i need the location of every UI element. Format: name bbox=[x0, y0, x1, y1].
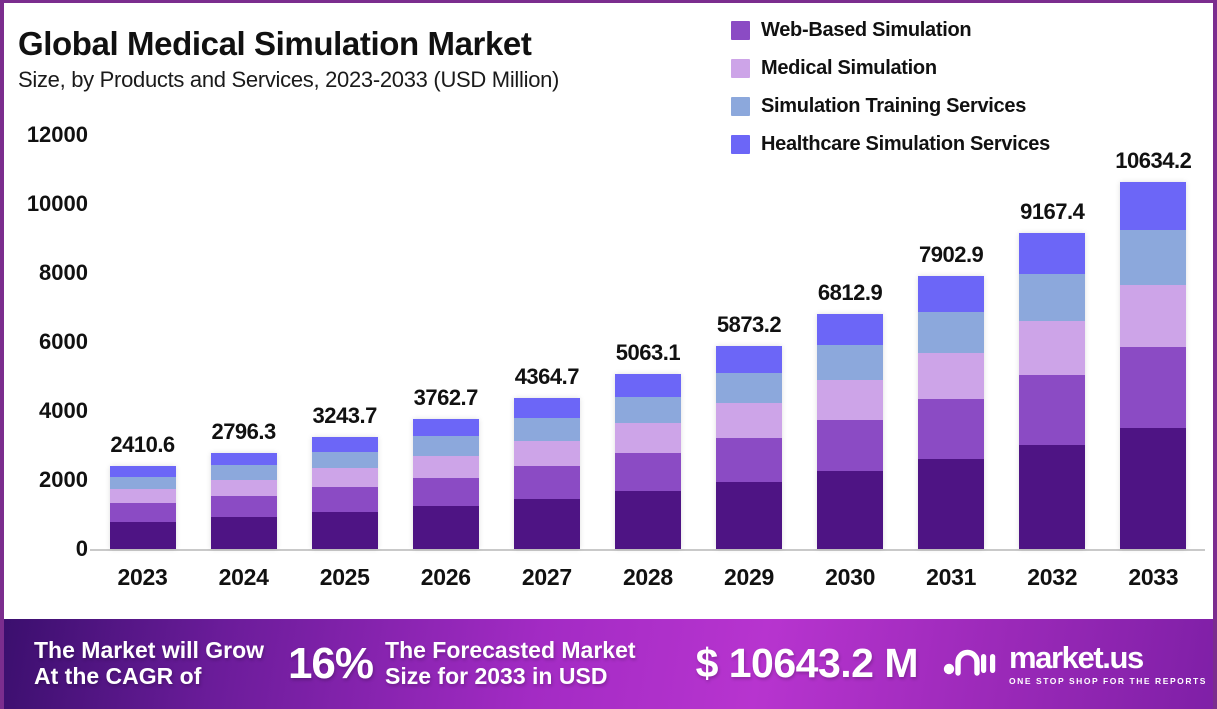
stacked-bar[interactable] bbox=[817, 314, 883, 549]
x-axis-tick-label: 2030 bbox=[800, 564, 901, 591]
stacked-bar[interactable] bbox=[716, 346, 782, 549]
bar-total-label: 10634.2 bbox=[1115, 148, 1191, 174]
bar-segment[interactable] bbox=[110, 477, 176, 489]
legend-item[interactable]: Simulation Training Services bbox=[731, 87, 1201, 125]
logo-name: market.us bbox=[1009, 642, 1207, 673]
bar-segment[interactable] bbox=[1120, 230, 1186, 285]
bar-total-label: 3243.7 bbox=[313, 403, 377, 429]
bar-segment[interactable] bbox=[110, 466, 176, 477]
bar-total-label: 2796.3 bbox=[211, 419, 275, 445]
bar-segment[interactable] bbox=[918, 353, 984, 399]
stacked-bar[interactable] bbox=[413, 419, 479, 549]
bar-segment[interactable] bbox=[211, 517, 277, 549]
bar-segment[interactable] bbox=[413, 419, 479, 436]
y-axis-tick-label: 12000 bbox=[27, 122, 88, 148]
market-us-logo-icon bbox=[940, 642, 1000, 687]
bar-segment[interactable] bbox=[211, 465, 277, 479]
y-axis-labels: 120001000080006000400020000 bbox=[4, 121, 88, 561]
x-axis-tick-label: 2027 bbox=[496, 564, 597, 591]
bar-total-label: 6812.9 bbox=[818, 280, 882, 306]
bar-segment[interactable] bbox=[312, 512, 378, 549]
bar-total-label: 7902.9 bbox=[919, 242, 983, 268]
summary-banner: The Market will Grow At the CAGR of 16% … bbox=[4, 619, 1217, 709]
legend-swatch-icon bbox=[731, 21, 750, 40]
bar-segment[interactable] bbox=[312, 437, 378, 452]
bar-total-label: 4364.7 bbox=[515, 364, 579, 390]
stacked-bar[interactable] bbox=[211, 453, 277, 549]
bar-series-container: 2410.62796.33243.73762.74364.75063.15873… bbox=[92, 121, 1204, 549]
bar-segment[interactable] bbox=[716, 373, 782, 403]
cagr-label: The Market will Grow At the CAGR of bbox=[34, 638, 280, 690]
stacked-bar[interactable] bbox=[110, 466, 176, 549]
legend-item-label: Medical Simulation bbox=[761, 57, 937, 80]
logo-text-block: market.us ONE STOP SHOP FOR THE REPORTS bbox=[1009, 642, 1207, 686]
x-axis-labels: 2023202420252026202720282029203020312032… bbox=[92, 555, 1204, 599]
y-axis-tick-label: 8000 bbox=[39, 260, 88, 286]
page-title: Global Medical Simulation Market bbox=[18, 25, 531, 63]
bar-segment[interactable] bbox=[211, 453, 277, 466]
bar-segment[interactable] bbox=[1019, 321, 1085, 375]
bar-segment[interactable] bbox=[615, 491, 681, 549]
forecast-value: $ 10643.2 M bbox=[696, 641, 918, 687]
bar-segment[interactable] bbox=[918, 276, 984, 311]
bar-segment[interactable] bbox=[817, 471, 883, 549]
bar-segment[interactable] bbox=[1120, 182, 1186, 230]
bar-segment[interactable] bbox=[716, 346, 782, 372]
bar-group[interactable]: 2410.6 bbox=[92, 121, 193, 549]
x-axis-tick-label: 2026 bbox=[395, 564, 496, 591]
infographic-frame: Global Medical Simulation Market Size, b… bbox=[0, 0, 1217, 709]
x-axis-tick-label: 2032 bbox=[1002, 564, 1103, 591]
bar-group[interactable]: 5873.2 bbox=[699, 121, 800, 549]
bar-segment[interactable] bbox=[1019, 233, 1085, 274]
stacked-bar[interactable] bbox=[1120, 182, 1186, 549]
bar-segment[interactable] bbox=[110, 489, 176, 503]
bar-segment[interactable] bbox=[413, 478, 479, 507]
bar-segment[interactable] bbox=[918, 312, 984, 353]
y-axis-tick-label: 2000 bbox=[39, 467, 88, 493]
page-subtitle: Size, by Products and Services, 2023-203… bbox=[18, 67, 559, 93]
bar-segment[interactable] bbox=[615, 423, 681, 453]
bar-segment[interactable] bbox=[716, 403, 782, 437]
bar-segment[interactable] bbox=[211, 480, 277, 496]
bar-segment[interactable] bbox=[1019, 274, 1085, 321]
bar-segment[interactable] bbox=[1019, 375, 1085, 445]
legend-item[interactable]: Web-Based Simulation bbox=[731, 11, 1201, 49]
y-axis-tick-label: 0 bbox=[76, 536, 88, 562]
bar-segment[interactable] bbox=[312, 468, 378, 487]
x-axis-tick-label: 2031 bbox=[901, 564, 1002, 591]
bar-segment[interactable] bbox=[312, 452, 378, 469]
bar-segment[interactable] bbox=[1120, 428, 1186, 549]
legend-item-label: Simulation Training Services bbox=[761, 95, 1026, 118]
bar-total-label: 9167.4 bbox=[1020, 199, 1084, 225]
bar-segment[interactable] bbox=[817, 380, 883, 420]
bar-group[interactable]: 2796.3 bbox=[193, 121, 294, 549]
bar-segment[interactable] bbox=[312, 487, 378, 512]
bar-segment[interactable] bbox=[1019, 445, 1085, 549]
stacked-bar[interactable] bbox=[1019, 233, 1085, 549]
legend-swatch-icon bbox=[731, 59, 750, 78]
chart-header: Global Medical Simulation Market Size, b… bbox=[4, 3, 724, 121]
bar-segment[interactable] bbox=[110, 522, 176, 549]
bar-group[interactable]: 6812.9 bbox=[800, 121, 901, 549]
forecast-label: The Forecasted Market Size for 2033 in U… bbox=[385, 638, 678, 690]
bar-group[interactable]: 4364.7 bbox=[496, 121, 597, 549]
bar-segment[interactable] bbox=[1120, 285, 1186, 347]
bar-segment[interactable] bbox=[413, 436, 479, 455]
stacked-bar[interactable] bbox=[514, 398, 580, 549]
x-axis-tick-label: 2028 bbox=[597, 564, 698, 591]
bar-segment[interactable] bbox=[918, 459, 984, 549]
bar-segment[interactable] bbox=[817, 314, 883, 345]
cagr-value: 16% bbox=[288, 639, 373, 688]
x-axis-tick-label: 2023 bbox=[92, 564, 193, 591]
bar-segment[interactable] bbox=[413, 506, 479, 549]
bar-segment[interactable] bbox=[716, 438, 782, 483]
bar-total-label: 3762.7 bbox=[414, 385, 478, 411]
x-axis-tick-label: 2024 bbox=[193, 564, 294, 591]
bar-segment[interactable] bbox=[817, 345, 883, 380]
legend-swatch-icon bbox=[731, 97, 750, 116]
bar-total-label: 5063.1 bbox=[616, 340, 680, 366]
market-us-logo[interactable]: market.us ONE STOP SHOP FOR THE REPORTS bbox=[940, 642, 1207, 687]
bar-segment[interactable] bbox=[918, 399, 984, 459]
bar-segment[interactable] bbox=[615, 453, 681, 491]
x-axis-tick-label: 2033 bbox=[1103, 564, 1204, 591]
bar-segment[interactable] bbox=[514, 466, 580, 499]
logo-tagline: ONE STOP SHOP FOR THE REPORTS bbox=[1009, 676, 1207, 686]
chart-plot-area: 120001000080006000400020000 2410.62796.3… bbox=[4, 121, 1217, 613]
legend-item-label: Web-Based Simulation bbox=[761, 19, 971, 42]
bar-segment[interactable] bbox=[615, 397, 681, 423]
bar-group[interactable]: 3762.7 bbox=[395, 121, 496, 549]
bar-segment[interactable] bbox=[514, 418, 580, 441]
stacked-bar[interactable] bbox=[615, 374, 681, 549]
stacked-bar[interactable] bbox=[918, 276, 984, 549]
stacked-bar[interactable] bbox=[312, 437, 378, 549]
y-axis-tick-label: 4000 bbox=[39, 398, 88, 424]
bar-segment[interactable] bbox=[514, 398, 580, 418]
x-axis-tick-label: 2029 bbox=[699, 564, 800, 591]
bar-group[interactable]: 3243.7 bbox=[294, 121, 395, 549]
bar-total-label: 5873.2 bbox=[717, 312, 781, 338]
bar-segment[interactable] bbox=[211, 496, 277, 517]
bar-segment[interactable] bbox=[1120, 347, 1186, 428]
y-axis-tick-label: 10000 bbox=[27, 191, 88, 217]
bar-segment[interactable] bbox=[817, 420, 883, 472]
bar-group[interactable]: 7902.9 bbox=[901, 121, 1002, 549]
bar-segment[interactable] bbox=[716, 482, 782, 549]
bar-group[interactable]: 5063.1 bbox=[597, 121, 698, 549]
x-axis-line bbox=[90, 549, 1205, 551]
bar-group[interactable]: 9167.4 bbox=[1002, 121, 1103, 549]
x-axis-tick-label: 2025 bbox=[294, 564, 395, 591]
y-axis-tick-label: 6000 bbox=[39, 329, 88, 355]
bar-segment[interactable] bbox=[413, 456, 479, 478]
legend-item[interactable]: Medical Simulation bbox=[731, 49, 1201, 87]
bar-segment[interactable] bbox=[514, 441, 580, 467]
bar-total-label: 2410.6 bbox=[110, 432, 174, 458]
bar-segment[interactable] bbox=[514, 499, 580, 549]
bar-segment[interactable] bbox=[615, 374, 681, 397]
bar-segment[interactable] bbox=[110, 503, 176, 521]
bar-group[interactable]: 10634.2 bbox=[1103, 121, 1204, 549]
